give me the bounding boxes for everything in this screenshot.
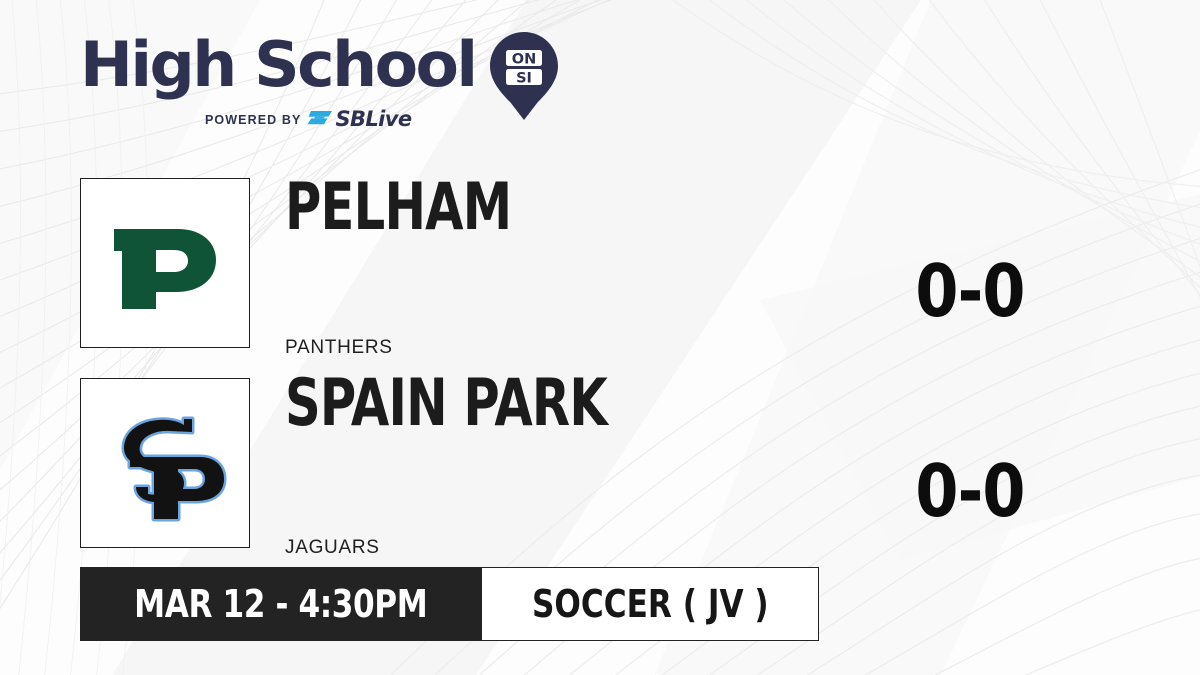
game-date-panel: MAR 12 - 4:30PM xyxy=(80,567,482,641)
team-mascot: PANTHERS xyxy=(285,337,393,359)
game-sport-panel: SOCCER ( JV ) xyxy=(482,567,820,641)
brand-wordmark: High School xyxy=(80,34,475,96)
onsi-pin-icon: ON SI xyxy=(486,30,562,122)
sblive-s-mark xyxy=(307,109,333,130)
pelham-panthers-logo xyxy=(80,178,250,348)
team-score: 0-0 xyxy=(884,255,1056,327)
powered-by-block: POWERED BY SBLive xyxy=(205,109,411,130)
game-date-text: MAR 12 - 4:30PM xyxy=(134,585,427,623)
team-name: PELHAM xyxy=(285,177,511,237)
team-score: 0-0 xyxy=(884,455,1056,527)
game-sport-text: SOCCER ( JV ) xyxy=(531,585,768,623)
team-name: SPAIN PARK xyxy=(285,373,607,433)
pin-on-text: ON xyxy=(512,52,536,68)
brand-header: High School ON SI POWERED BY SBLive xyxy=(80,34,510,134)
team-mascot: JAGUARS xyxy=(285,537,380,559)
spain-park-jaguars-logo xyxy=(80,378,250,548)
pin-si-text: SI xyxy=(516,71,532,87)
scoreboard-graphic: High School ON SI POWERED BY SBLive xyxy=(0,0,1200,675)
sblive-logo: SBLive xyxy=(307,109,411,130)
game-info-bar: MAR 12 - 4:30PM SOCCER ( JV ) xyxy=(80,567,819,641)
powered-by-label: POWERED BY xyxy=(205,113,301,127)
sblive-wordmark: SBLive xyxy=(335,109,411,130)
